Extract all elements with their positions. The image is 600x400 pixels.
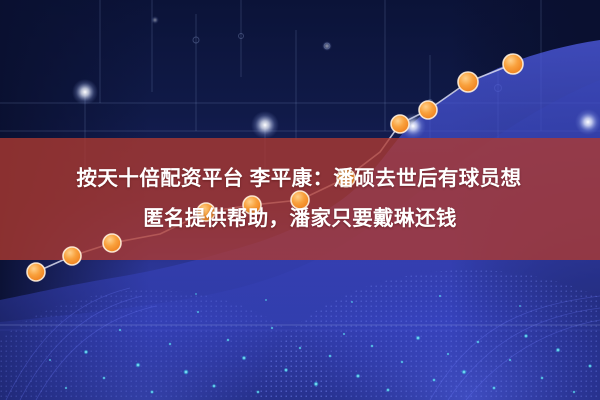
chart-marker bbox=[458, 72, 478, 92]
glow-point bbox=[72, 79, 98, 105]
chart-marker bbox=[27, 263, 45, 281]
chart-marker bbox=[391, 115, 409, 133]
headline-line-2: 匿名提供帮助，潘家只要戴琳还钱 bbox=[143, 199, 457, 239]
chart-marker bbox=[419, 101, 437, 119]
glow-point bbox=[575, 109, 600, 135]
glow-point bbox=[400, 113, 426, 139]
glow-point bbox=[322, 41, 332, 51]
banner-image: 按天十倍配资平台 李平康：潘硕去世后有球员想 匿名提供帮助，潘家只要戴琳还钱 bbox=[0, 0, 600, 400]
headline-text: 按天十倍配资平台 李平康：潘硕去世后有球员想 匿名提供帮助，潘家只要戴琳还钱 bbox=[0, 138, 600, 260]
glow-point bbox=[151, 16, 159, 24]
chart-marker bbox=[503, 54, 523, 74]
glow-point bbox=[251, 111, 279, 139]
headline-line-1: 按天十倍配资平台 李平康：潘硕去世后有球员想 bbox=[77, 159, 524, 199]
